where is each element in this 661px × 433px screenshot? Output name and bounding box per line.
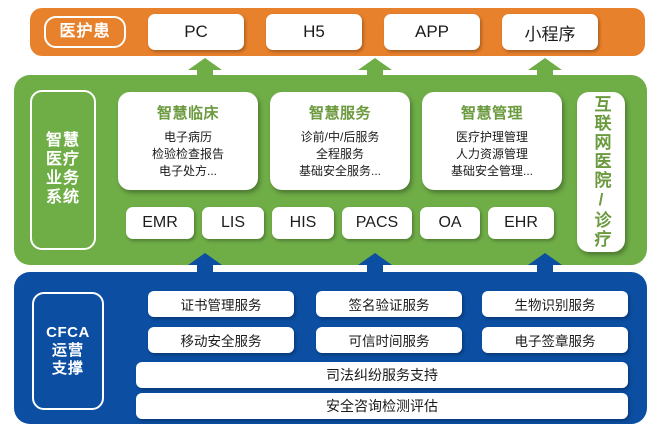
support-service-certificate-management[interactable]: 证书管理服务 [148, 291, 294, 317]
system-chip-oa[interactable]: OA [420, 207, 480, 239]
system-chip-pacs[interactable]: PACS [342, 207, 412, 239]
business-card-service-body: 诊前/中/后服务 全程服务 基础安全服务... [299, 129, 381, 180]
channel-item-pc-label: PC [184, 22, 208, 42]
system-chip-pacs-label: PACS [356, 214, 398, 232]
support-layer-label-line-2: 运营 [46, 342, 90, 360]
business-card-clinical-title: 智慧临床 [157, 102, 219, 123]
channel-item-h5-label: H5 [303, 22, 325, 42]
system-chip-emr[interactable]: EMR [126, 207, 194, 239]
system-chip-his[interactable]: HIS [272, 207, 334, 239]
support-layer-label-line-3: 支撑 [46, 360, 90, 378]
support-service-electronic-seal-label: 电子签章服务 [515, 330, 596, 350]
business-card-clinical-body: 电子病历 检验检查报告 电子处方... [152, 129, 224, 180]
business-layer-label: 智慧 医疗 业务 系统 [30, 90, 96, 250]
arrow-business-to-channel-3-icon [528, 58, 562, 76]
system-chip-ehr-label: EHR [504, 214, 538, 232]
support-service-biometric-recognition-label: 生物识别服务 [515, 294, 596, 314]
channel-item-pc[interactable]: PC [148, 14, 244, 50]
system-chip-oa-label: OA [438, 214, 461, 232]
support-bar-judicial-dispute[interactable]: 司法纠纷服务支持 [136, 362, 628, 388]
support-service-trusted-timestamp-label: 可信时间服务 [349, 330, 430, 350]
business-card-management-title: 智慧管理 [461, 102, 523, 123]
arrow-support-to-business-1-icon [188, 253, 222, 272]
business-card-management[interactable]: 智慧管理 医疗护理管理 人力资源管理 基础安全管理... [422, 92, 562, 190]
support-service-mobile-security[interactable]: 移动安全服务 [148, 327, 294, 353]
support-bar-judicial-dispute-label: 司法纠纷服务支持 [326, 365, 438, 385]
support-service-biometric-recognition[interactable]: 生物识别服务 [482, 291, 628, 317]
support-layer-label: CFCA 运营 支撑 [32, 292, 104, 410]
support-bar-security-consulting[interactable]: 安全咨询检测评估 [136, 393, 628, 419]
business-card-service[interactable]: 智慧服务 诊前/中/后服务 全程服务 基础安全服务... [270, 92, 410, 190]
business-layer-label-line-2: 医疗 [46, 151, 80, 170]
system-chip-lis-label: LIS [221, 214, 245, 232]
business-card-clinical[interactable]: 智慧临床 电子病历 检验检查报告 电子处方... [118, 92, 258, 190]
channel-item-miniprogram-label: 小程序 [525, 20, 576, 45]
system-chip-lis[interactable]: LIS [202, 207, 264, 239]
channel-item-h5[interactable]: H5 [266, 14, 362, 50]
arrow-support-to-business-2-icon [358, 253, 392, 272]
system-chip-ehr[interactable]: EHR [488, 207, 554, 239]
arrow-business-to-channel-2-icon [358, 58, 392, 76]
business-layer-label-line-4: 系统 [46, 189, 80, 208]
business-card-management-body: 医疗护理管理 人力资源管理 基础安全管理... [451, 129, 533, 180]
support-service-signature-verification[interactable]: 签名验证服务 [316, 291, 462, 317]
support-service-certificate-management-label: 证书管理服务 [181, 294, 262, 314]
business-layer-label-line-3: 业务 [46, 170, 80, 189]
arrow-business-to-channel-1-icon [188, 58, 222, 76]
support-service-trusted-timestamp[interactable]: 可信时间服务 [316, 327, 462, 353]
business-card-internet-hospital-label: 互联网医院/诊疗 [589, 95, 614, 249]
support-bar-security-consulting-label: 安全咨询检测评估 [326, 396, 438, 416]
business-card-internet-hospital[interactable]: 互联网医院/诊疗 [577, 92, 625, 252]
architecture-diagram: 医护患 PC H5 APP 小程序 智慧 医疗 业务 系统 智慧临床 电子病历 … [0, 0, 661, 433]
channel-layer-label: 医护患 [44, 16, 126, 48]
channel-layer-label-line-1: 医护患 [59, 23, 110, 42]
channel-item-app-label: APP [415, 22, 449, 42]
system-chip-his-label: HIS [290, 214, 317, 232]
arrow-support-to-business-3-icon [528, 253, 562, 272]
support-service-electronic-seal[interactable]: 电子签章服务 [482, 327, 628, 353]
system-chip-emr-label: EMR [142, 214, 178, 232]
support-service-signature-verification-label: 签名验证服务 [349, 294, 430, 314]
business-layer-label-line-1: 智慧 [46, 132, 80, 151]
support-service-mobile-security-label: 移动安全服务 [181, 330, 262, 350]
business-card-service-title: 智慧服务 [309, 102, 371, 123]
support-layer-label-line-1: CFCA [46, 324, 90, 342]
channel-item-miniprogram[interactable]: 小程序 [502, 14, 598, 50]
channel-item-app[interactable]: APP [384, 14, 480, 50]
